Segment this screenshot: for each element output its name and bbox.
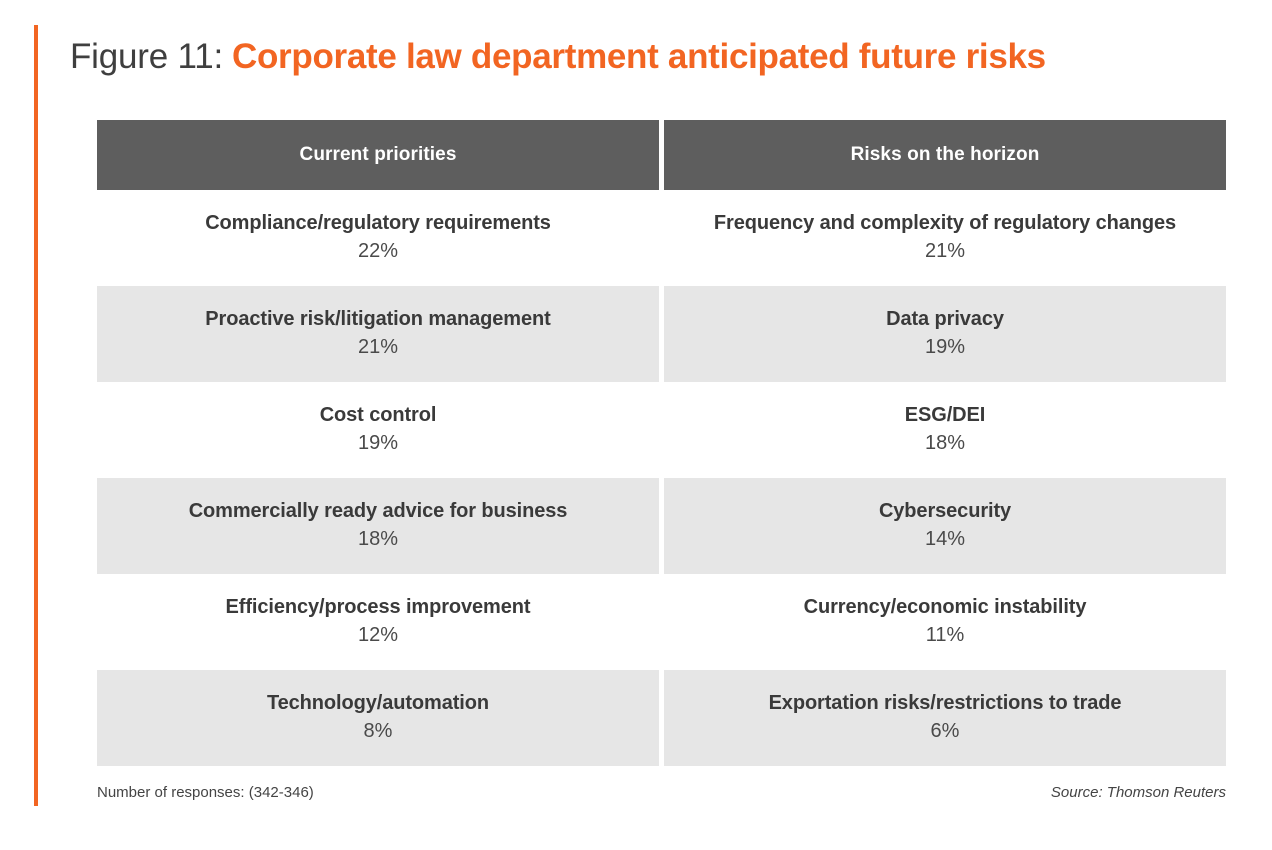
cell-value: 8%: [364, 718, 393, 745]
cell-label: Efficiency/process improvement: [226, 596, 531, 619]
table-cell-left: Commercially ready advice for business 1…: [97, 478, 659, 574]
cell-label: Currency/economic instability: [804, 596, 1087, 619]
table-cell-left: Technology/automation 8%: [97, 670, 659, 766]
table-cell-right: Cybersecurity 14%: [664, 478, 1226, 574]
cell-value: 22%: [358, 238, 398, 265]
table-cell-right: Currency/economic instability 11%: [664, 574, 1226, 670]
cell-value: 14%: [925, 526, 965, 553]
table-cell-left: Proactive risk/litigation management 21%: [97, 286, 659, 382]
table-header-row: Current priorities Risks on the horizon: [97, 120, 1226, 190]
table-cell-right: Frequency and complexity of regulatory c…: [664, 190, 1226, 286]
cell-label: Proactive risk/litigation management: [205, 308, 550, 331]
cell-value: 12%: [358, 622, 398, 649]
table-row: Compliance/regulatory requirements 22% F…: [97, 190, 1226, 286]
cell-label: Technology/automation: [267, 692, 489, 715]
table-row: Commercially ready advice for business 1…: [97, 478, 1226, 574]
column-header-label: Risks on the horizon: [851, 144, 1040, 166]
cell-value: 21%: [358, 334, 398, 361]
cell-value: 18%: [925, 430, 965, 457]
figure-table: Current priorities Risks on the horizon …: [97, 120, 1226, 766]
source-note: Source: Thomson Reuters: [1051, 784, 1226, 801]
figure-title-text: Corporate law department anticipated fut…: [232, 37, 1046, 77]
cell-label: Data privacy: [886, 308, 1004, 331]
table-row: Technology/automation 8% Exportation ris…: [97, 670, 1226, 766]
cell-value: 19%: [925, 334, 965, 361]
table-cell-right: ESG/DEI 18%: [664, 382, 1226, 478]
orange-accent-bar: [34, 25, 38, 806]
column-header-risks-on-the-horizon: Risks on the horizon: [664, 120, 1226, 190]
table-cell-left: Cost control 19%: [97, 382, 659, 478]
figure-number-label: Figure 11:: [70, 37, 223, 77]
cell-label: Compliance/regulatory requirements: [205, 212, 551, 235]
column-header-label: Current priorities: [300, 144, 457, 166]
responses-note: Number of responses: (342-346): [97, 784, 314, 801]
cell-label: Cost control: [320, 404, 437, 427]
cell-label: ESG/DEI: [905, 404, 985, 427]
cell-label: Commercially ready advice for business: [189, 500, 568, 523]
cell-label: Cybersecurity: [879, 500, 1011, 523]
table-cell-left: Efficiency/process improvement 12%: [97, 574, 659, 670]
cell-label: Exportation risks/restrictions to trade: [769, 692, 1122, 715]
cell-value: 6%: [931, 718, 960, 745]
figure-footer: Number of responses: (342-346) Source: T…: [97, 784, 1226, 801]
cell-value: 19%: [358, 430, 398, 457]
page-title: Figure 11: Corporate law department anti…: [70, 28, 1230, 86]
column-header-current-priorities: Current priorities: [97, 120, 659, 190]
cell-value: 11%: [926, 622, 965, 649]
table-row: Efficiency/process improvement 12% Curre…: [97, 574, 1226, 670]
table-cell-right: Exportation risks/restrictions to trade …: [664, 670, 1226, 766]
table-row: Proactive risk/litigation management 21%…: [97, 286, 1226, 382]
cell-value: 18%: [358, 526, 398, 553]
table-row: Cost control 19% ESG/DEI 18%: [97, 382, 1226, 478]
table-cell-right: Data privacy 19%: [664, 286, 1226, 382]
cell-label: Frequency and complexity of regulatory c…: [714, 212, 1176, 235]
table-cell-left: Compliance/regulatory requirements 22%: [97, 190, 659, 286]
cell-value: 21%: [925, 238, 965, 265]
